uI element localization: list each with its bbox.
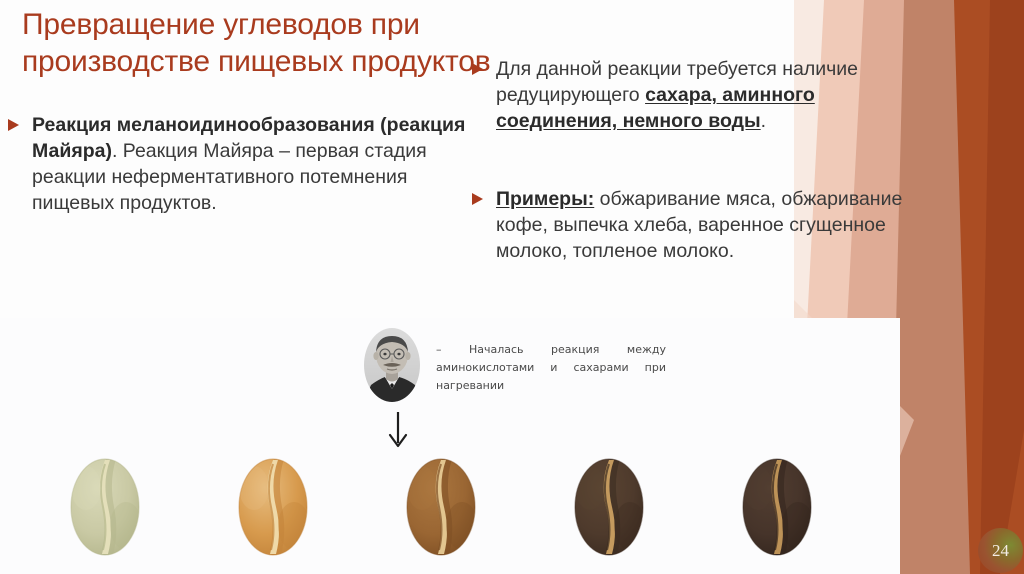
down-arrow-icon [378,410,418,452]
triangle-bullet-icon [8,119,24,131]
figure-caption: – Началась реакция между аминокислотами … [436,341,666,394]
coffee-bean-dark-roast [564,448,654,566]
triangle-bullet-icon [472,193,488,205]
down-arrow-graphic [378,410,418,452]
slide-canvas: Превращение углеводов при производстве п… [0,0,1024,574]
coffee-bean-medium-roast-graphic [396,448,486,566]
coffee-bean-green-graphic [60,448,150,566]
portrait-maillard [361,327,423,403]
coffee-bean-medium-roast [396,448,486,566]
coffee-bean-very-dark [732,448,822,566]
page-number-badge: 24 [978,528,1023,573]
coffee-bean-very-dark-graphic [732,448,822,566]
bullet-maillard-definition-text: Реакция меланоидинообразования (реакция … [32,112,478,217]
bullet-requirements-text: Для данной реакции требуется наличие ред… [496,56,922,134]
requirements-tail: . [761,110,766,132]
bullet-requirements: Для данной реакции требуется наличие ред… [472,56,922,134]
bullet-maillard-definition: Реакция меланоидинообразования (реакция … [8,112,478,217]
page-title: Превращение углеводов при производстве п… [22,6,492,80]
examples-label: Примеры: [496,188,594,210]
coffee-bean-green [60,448,150,566]
bullet-examples-text: Примеры: обжаривание мяса, обжаривание к… [496,186,922,264]
bullet-examples: Примеры: обжаривание мяса, обжаривание к… [472,186,922,264]
coffee-bean-dark-roast-graphic [564,448,654,566]
coffee-bean-row [60,448,900,568]
coffee-bean-light-roast-graphic [228,448,318,566]
coffee-bean-light-roast [228,448,318,566]
portrait-maillard-graphic [361,327,423,403]
triangle-bullet-icon [472,63,488,75]
